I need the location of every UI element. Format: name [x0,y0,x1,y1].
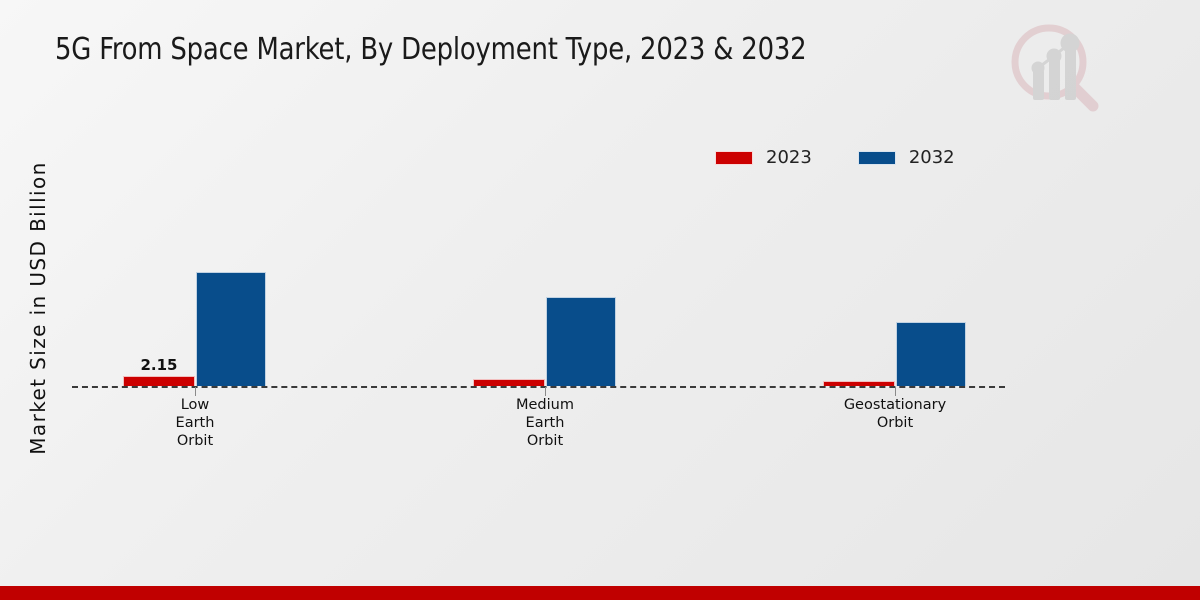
category-label-1: MediumEarthOrbit [445,396,645,450]
bar-geostationary-orbit-2032[interactable] [896,322,966,386]
bar-low-earth-orbit-2023[interactable] [123,376,195,386]
category-label-line: Orbit [445,432,645,450]
x-tick-1 [545,387,546,396]
category-label-line: Orbit [95,432,295,450]
bottom-accent-strip [0,586,1200,600]
category-label-2: GeostationaryOrbit [795,396,995,432]
axis-baseline [72,386,1005,388]
category-label-line: Earth [95,414,295,432]
category-label-line: Medium [445,396,645,414]
bar-value-label-low-earth-orbit-2023: 2.15 [123,356,195,374]
category-label-line: Earth [445,414,645,432]
bar-medium-earth-orbit-2023[interactable] [473,379,545,386]
category-label-line: Low [95,396,295,414]
bar-medium-earth-orbit-2032[interactable] [546,297,616,386]
category-label-0: LowEarthOrbit [95,396,295,450]
bar-low-earth-orbit-2032[interactable] [196,272,266,386]
category-label-line: Geostationary [795,396,995,414]
category-label-line: Orbit [795,414,995,432]
plot-area: 2.15 LowEarthOrbitMediumEarthOrbitGeosta… [0,0,1200,600]
bar-geostationary-orbit-2023[interactable] [823,381,895,386]
x-tick-2 [895,387,896,396]
x-tick-0 [195,387,196,396]
